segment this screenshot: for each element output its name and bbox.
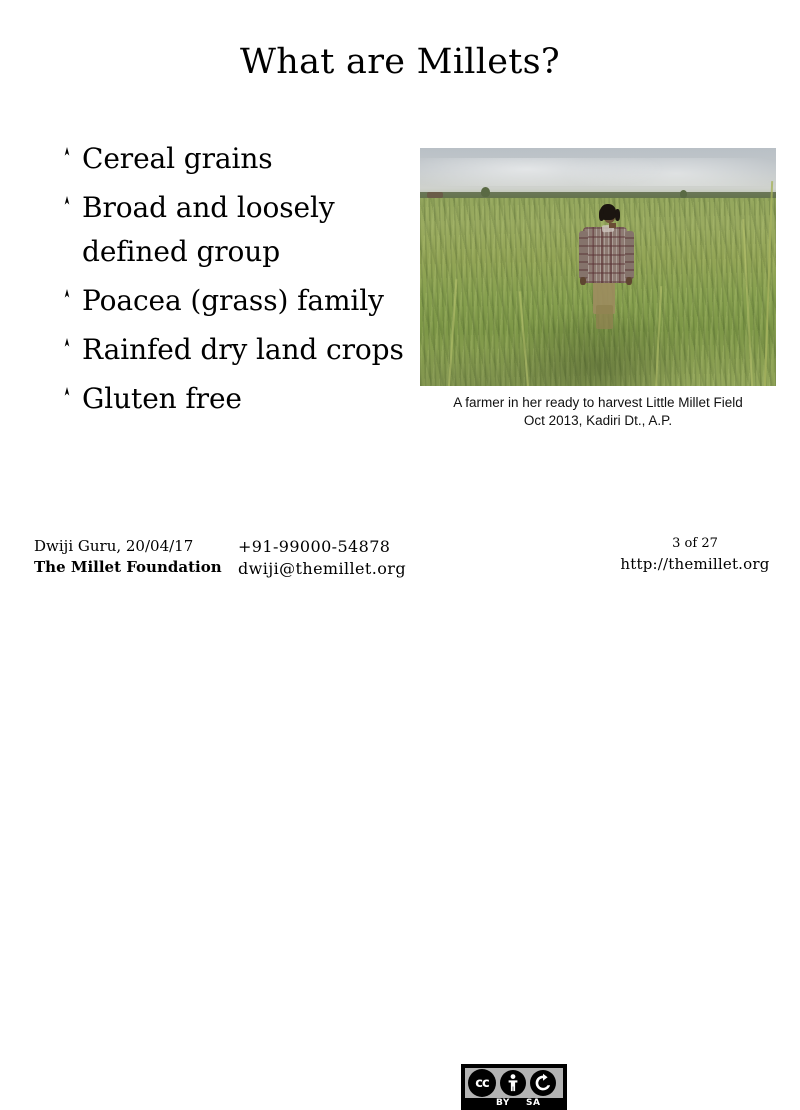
footer-phone: +91-99000-54878: [238, 536, 438, 558]
photo-farmer-arm-right: [625, 231, 634, 279]
cc-sa-label: SA: [526, 1098, 540, 1108]
creative-commons-icon: cc: [468, 1069, 496, 1097]
attribution-person-icon: [500, 1070, 526, 1096]
footer-website-link[interactable]: http://themillet.org: [600, 553, 790, 575]
photo-farmer-hand-right: [626, 277, 632, 285]
list-item-label: Broad and loosely defined group: [82, 186, 405, 274]
footer-author-block: Dwiji Guru, 20/04/17 The Millet Foundati…: [34, 536, 264, 578]
photo-tree: [481, 187, 490, 197]
page-indicator: 3 of 27: [600, 534, 790, 553]
list-item-label: Rainfed dry land crops: [82, 328, 405, 372]
photo-tree: [680, 190, 687, 198]
list-item: Rainfed dry land crops: [60, 328, 405, 372]
share-alike-icon: [530, 1070, 556, 1096]
photo-caption-line-2: Oct 2013, Kadiri Dt., A.P.: [413, 412, 783, 430]
footer-meta-block: 3 of 27 http://themillet.org: [600, 534, 790, 575]
photo-farmer-lower-legs: [596, 305, 613, 329]
photo-caption: A farmer in her ready to harvest Little …: [413, 394, 783, 430]
photo-farmer-shirt: [583, 227, 627, 283]
farmer-in-little-millet-field-photo: [420, 148, 776, 386]
triangle-up-bullet-icon: [60, 136, 82, 158]
list-item-label: Gluten free: [82, 377, 405, 421]
footer-email[interactable]: dwiji@themillet.org: [238, 558, 438, 580]
triangle-up-bullet-icon: [60, 327, 82, 349]
photo-farmer-hair-side: [599, 209, 604, 221]
bullet-list: Cereal grains Broad and loosely defined …: [60, 137, 405, 426]
triangle-up-bullet-icon: [60, 278, 82, 300]
list-item: Gluten free: [60, 377, 405, 421]
cc-badge-labels: BY SA: [465, 1098, 563, 1110]
footer-author-name: Dwiji Guru, 20/04/17: [34, 536, 264, 557]
footer-organization: The Millet Foundation: [34, 557, 264, 578]
list-item-label: Poacea (grass) family: [82, 279, 405, 323]
page-title: What are Millets?: [0, 42, 800, 82]
triangle-up-bullet-icon: [60, 185, 82, 207]
list-item: Broad and loosely defined group: [60, 186, 405, 274]
photo-farmer-hand-left: [580, 277, 586, 285]
photo-farmer-arm-left: [579, 231, 588, 279]
photo-figure: A farmer in her ready to harvest Little …: [420, 148, 776, 430]
list-item-label: Cereal grains: [82, 137, 405, 181]
photo-caption-line-1: A farmer in her ready to harvest Little …: [413, 394, 783, 412]
cc-by-sa-badge[interactable]: cc BY SA: [461, 1064, 567, 1110]
photo-farmer-neck: [609, 223, 616, 228]
slide-footer: Dwiji Guru, 20/04/17 The Millet Foundati…: [0, 530, 800, 590]
cc-by-label: BY: [496, 1098, 510, 1108]
list-item: Poacea (grass) family: [60, 279, 405, 323]
photo-clouds: [420, 158, 776, 187]
cc-badge-inner: cc: [465, 1068, 563, 1098]
footer-contact-block: +91-99000-54878 dwiji@themillet.org: [238, 536, 438, 580]
triangle-up-bullet-icon: [60, 376, 82, 398]
slide-canvas: What are Millets? Cereal grains Broad an…: [0, 0, 800, 600]
list-item: Cereal grains: [60, 137, 405, 181]
